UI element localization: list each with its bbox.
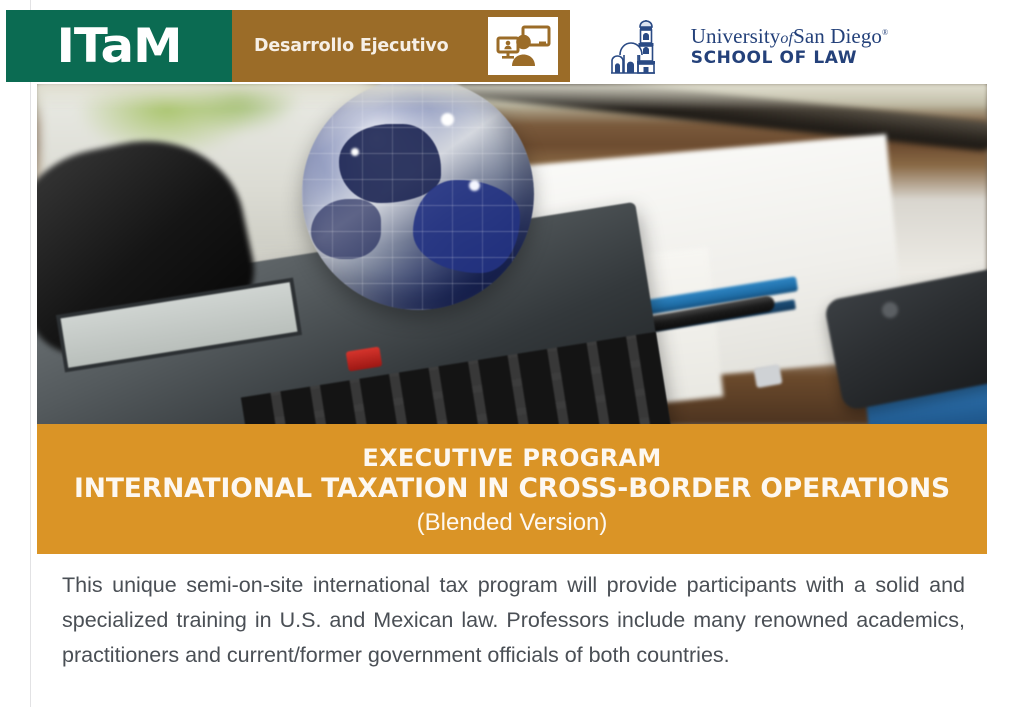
globe-highlight-c xyxy=(351,148,359,156)
body-text-block: This unique semi-on-site international t… xyxy=(62,568,965,672)
globe-highlight-a xyxy=(441,113,454,126)
person-with-monitors-icon xyxy=(488,17,558,75)
header-icon-block xyxy=(475,10,570,82)
desarrollo-ejecutivo-block: Desarrollo Ejecutivo xyxy=(232,10,475,82)
hero-top-fade xyxy=(37,84,987,110)
program-title-band: EXECUTIVE PROGRAM INTERNATIONAL TAXATION… xyxy=(37,424,987,554)
program-description-paragraph: This unique semi-on-site international t… xyxy=(62,568,965,672)
itam-wordmark: ITaM xyxy=(56,23,181,70)
usd-school-of-law-line: SCHOOL OF LAW xyxy=(691,50,888,67)
usd-university-word: University xyxy=(691,24,781,48)
brochure-page: ITaM Desarrollo Ejecutivo xyxy=(0,0,1024,707)
hero-photo xyxy=(37,84,987,424)
program-title-line-1: EXECUTIVE PROGRAM xyxy=(362,444,661,473)
program-title-line-2: INTERNATIONAL TAXATION IN CROSS-BORDER O… xyxy=(74,473,950,505)
right-margin xyxy=(988,0,1024,707)
itam-logo-block: ITaM xyxy=(6,10,232,82)
desarrollo-ejecutivo-label: Desarrollo Ejecutivo xyxy=(254,36,448,56)
program-title-subtitle: (Blended Version) xyxy=(417,507,608,538)
usd-sandiego-word: San Diego xyxy=(793,24,882,48)
usd-wordmark: UniversityofSan Diego® SCHOOL OF LAW xyxy=(691,26,888,67)
usd-logo: UniversityofSan Diego® SCHOOL OF LAW xyxy=(610,17,888,75)
mission-tower-icon xyxy=(610,17,682,75)
usd-registered-mark: ® xyxy=(882,28,888,37)
usd-logo-block: UniversityofSan Diego® SCHOOL OF LAW xyxy=(570,10,956,82)
header-logo-band: ITaM Desarrollo Ejecutivo xyxy=(6,10,956,82)
hero-glass-globe xyxy=(302,84,534,310)
usd-name-line: UniversityofSan Diego® xyxy=(691,26,888,47)
left-margin xyxy=(0,0,30,707)
usd-of-word: of xyxy=(780,30,793,47)
globe-graticule xyxy=(302,84,534,310)
